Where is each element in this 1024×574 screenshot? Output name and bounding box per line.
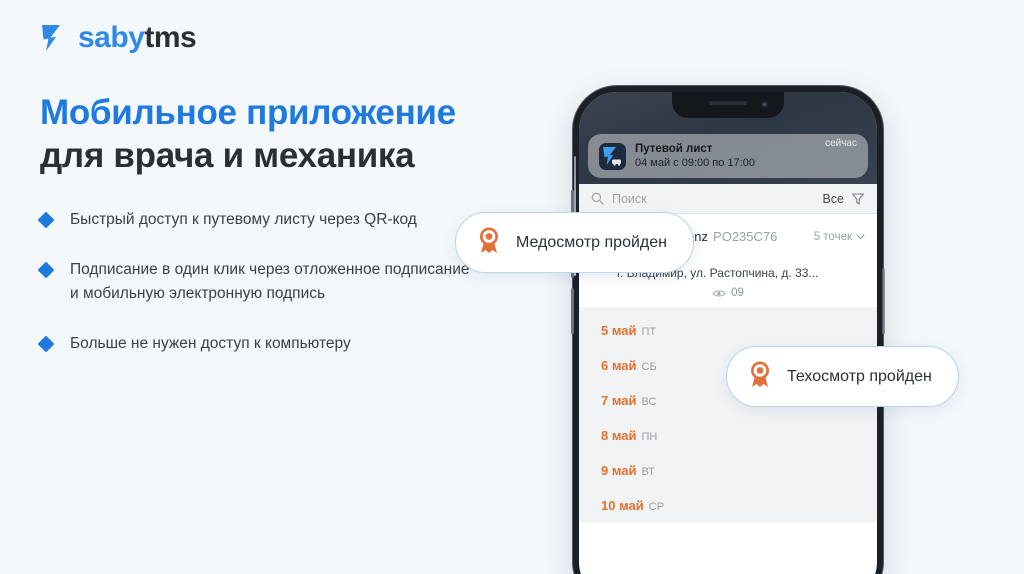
- filter-control[interactable]: Все: [822, 192, 865, 206]
- callout-medical-check: Медосмотр пройден: [455, 212, 694, 273]
- vehicle-plate: PO235C76: [713, 229, 777, 244]
- callout-technical-inspection: Техосмотр пройден: [726, 346, 959, 407]
- date-day: 10 май: [601, 498, 644, 513]
- brand-wordmark: sabytms: [78, 23, 196, 53]
- list-item-label: Быстрый доступ к путевому листу через QR…: [70, 208, 417, 232]
- list-item: Быстрый доступ к путевому листу через QR…: [40, 208, 470, 232]
- phone-volume-down-button[interactable]: [571, 288, 574, 334]
- saby-tms-app-icon: [599, 143, 626, 170]
- phone-notch: [672, 92, 784, 118]
- brand-name-secondary: tms: [144, 21, 196, 54]
- search-icon: [591, 192, 604, 205]
- vehicle-points-label: 5 точек: [814, 231, 852, 243]
- list-item-label: Подписание в один клик через отложенное …: [70, 258, 470, 306]
- front-camera-icon: [761, 101, 768, 108]
- search-bar[interactable]: Поиск Все: [579, 184, 877, 214]
- diamond-bullet-icon: [38, 336, 55, 353]
- date-dow: ср: [649, 501, 664, 513]
- brand-name-primary: saby: [78, 21, 144, 54]
- brand-logo: sabytms: [40, 22, 196, 54]
- date-day: 7 май: [601, 393, 637, 408]
- list-item: Подписание в один клик через отложенное …: [40, 258, 470, 306]
- notification-subtitle: 04 май с 09:00 по 17:00: [635, 156, 825, 170]
- list-item: Больше не нужен доступ к компьютеру: [40, 332, 470, 356]
- phone-power-button[interactable]: [882, 268, 885, 334]
- notification-body: Путевой лист 04 май с 09:00 по 17:00: [635, 142, 825, 171]
- phone-mockup: Путевой лист 04 май с 09:00 по 17:00 сей…: [573, 86, 883, 574]
- date-dow: вс: [642, 396, 657, 408]
- eye-icon: [712, 289, 726, 298]
- date-day: 8 май: [601, 428, 637, 443]
- phone-screen: Путевой лист 04 май с 09:00 по 17:00 сей…: [579, 92, 877, 574]
- list-item[interactable]: 10 майср: [579, 488, 877, 523]
- notification-timestamp: сейчас: [825, 138, 857, 149]
- diamond-bullet-icon: [38, 262, 55, 279]
- date-dow: пн: [642, 431, 658, 443]
- filter-label: Все: [822, 192, 844, 206]
- list-item[interactable]: 9 майвт: [579, 453, 877, 488]
- date-day: 6 май: [601, 358, 637, 373]
- callout-label: Техосмотр пройден: [787, 368, 932, 386]
- vehicle-points-dropdown[interactable]: 5 точек: [814, 231, 865, 243]
- diamond-bullet-icon: [38, 212, 55, 229]
- list-item-label: Больше не нужен доступ к компьютеру: [70, 332, 351, 356]
- headline-line-1: Мобильное приложение: [40, 92, 560, 135]
- date-day: 9 май: [601, 463, 637, 478]
- chevron-down-icon: [856, 234, 865, 240]
- date-day: 5 май: [601, 323, 637, 338]
- headline-line-2: для врача и механика: [40, 135, 560, 178]
- earpiece-speaker-icon: [709, 101, 747, 105]
- saby-bird-icon: [40, 22, 70, 54]
- vehicle-meta-value: 09: [731, 287, 744, 299]
- funnel-icon: [851, 192, 865, 206]
- notification-banner[interactable]: Путевой лист 04 май с 09:00 по 17:00 сей…: [588, 134, 868, 178]
- rosette-award-icon: [747, 360, 773, 393]
- date-dow: сб: [642, 361, 657, 373]
- page-title: Мобильное приложение для врача и механик…: [40, 92, 560, 177]
- notification-title: Путевой лист: [635, 142, 825, 156]
- callout-label: Медосмотр пройден: [516, 234, 667, 252]
- rosette-award-icon: [476, 226, 502, 259]
- date-list: 5 майпт 6 майсб 7 майвс 8 майпн 9 майвт: [579, 307, 877, 523]
- feature-list: Быстрый доступ к путевому листу через QR…: [40, 208, 470, 356]
- slide-root: sabytms Мобильное приложение для врача и…: [0, 0, 1024, 574]
- list-item[interactable]: 5 майпт: [579, 313, 877, 348]
- vehicle-meta: 09: [591, 287, 865, 299]
- search-placeholder: Поиск: [612, 192, 647, 206]
- search-input[interactable]: Поиск: [591, 192, 822, 206]
- list-item[interactable]: 8 майпн: [579, 418, 877, 453]
- date-dow: пт: [642, 326, 657, 338]
- date-dow: вт: [642, 466, 655, 478]
